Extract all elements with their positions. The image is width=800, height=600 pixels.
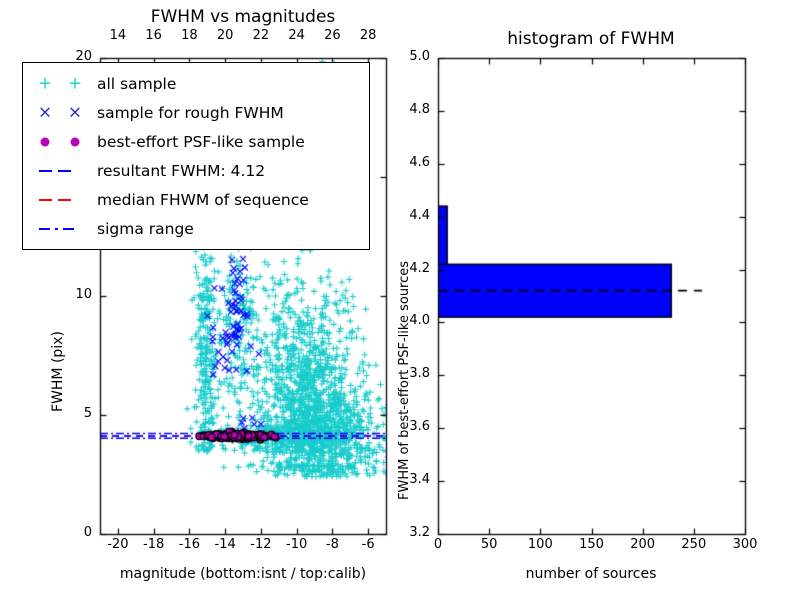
legend-box: ++all sample××sample for rough FWHMbest-… [22,62,370,250]
legend-item-label: median FHWM of sequence [97,191,309,209]
legend-item: ++all sample [29,69,361,98]
tick-label: 4.2 [382,261,430,276]
legend-marker-dashdot-line-icon [29,214,97,243]
tick-label: 200 [615,537,671,552]
tick-label: 4.4 [382,208,430,223]
legend-item-label: all sample [97,75,176,93]
legend-marker-cross-icon: ×× [29,98,97,127]
legend-item-label: sigma range [97,220,194,238]
tick-label: 250 [666,537,722,552]
tick-label: 5.0 [382,49,430,64]
left-panel-ylabel: FWHM (pix) [50,331,66,412]
tick-label: 150 [564,537,620,552]
legend-marker-dashed-line-icon [29,185,97,214]
legend-item-label: resultant FWHM: 4.12 [97,162,265,180]
tick-label: 10 [44,287,92,302]
tick-label: 4.0 [382,313,430,328]
tick-label: 300 [717,537,773,552]
tick-label: 5 [44,406,92,421]
legend-item: ××sample for rough FWHM [29,98,361,127]
legend-item: resultant FWHM: 4.12 [29,156,361,185]
tick-label: 28 [340,28,396,43]
legend-item: best-effort PSF-like sample [29,127,361,156]
tick-label: 50 [461,537,517,552]
tick-label: 3.4 [382,472,430,487]
legend-marker-plus-icon: ++ [29,69,97,98]
legend-item: sigma range [29,214,361,243]
tick-label: 4.6 [382,155,430,170]
right-panel-title: histogram of FWHM [436,29,746,49]
legend-marker-dot-icon [29,127,97,156]
tick-label: 100 [512,537,568,552]
right-panel-xlabel: number of sources [436,566,746,582]
left-panel-title: FWHM vs magnitudes [114,7,372,27]
left-panel-xlabel: magnitude (bottom:isnt / top:calib) [100,566,386,582]
legend-item-label: sample for rough FWHM [97,104,284,122]
tick-label: 3.2 [382,525,430,540]
tick-label: 3.8 [382,366,430,381]
tick-label: 0 [44,525,92,540]
legend-item-label: best-effort PSF-like sample [97,133,305,151]
legend-marker-dashed-line-icon [29,156,97,185]
tick-label: 3.6 [382,419,430,434]
tick-label: 4.8 [382,102,430,117]
legend-item: median FHWM of sequence [29,185,361,214]
